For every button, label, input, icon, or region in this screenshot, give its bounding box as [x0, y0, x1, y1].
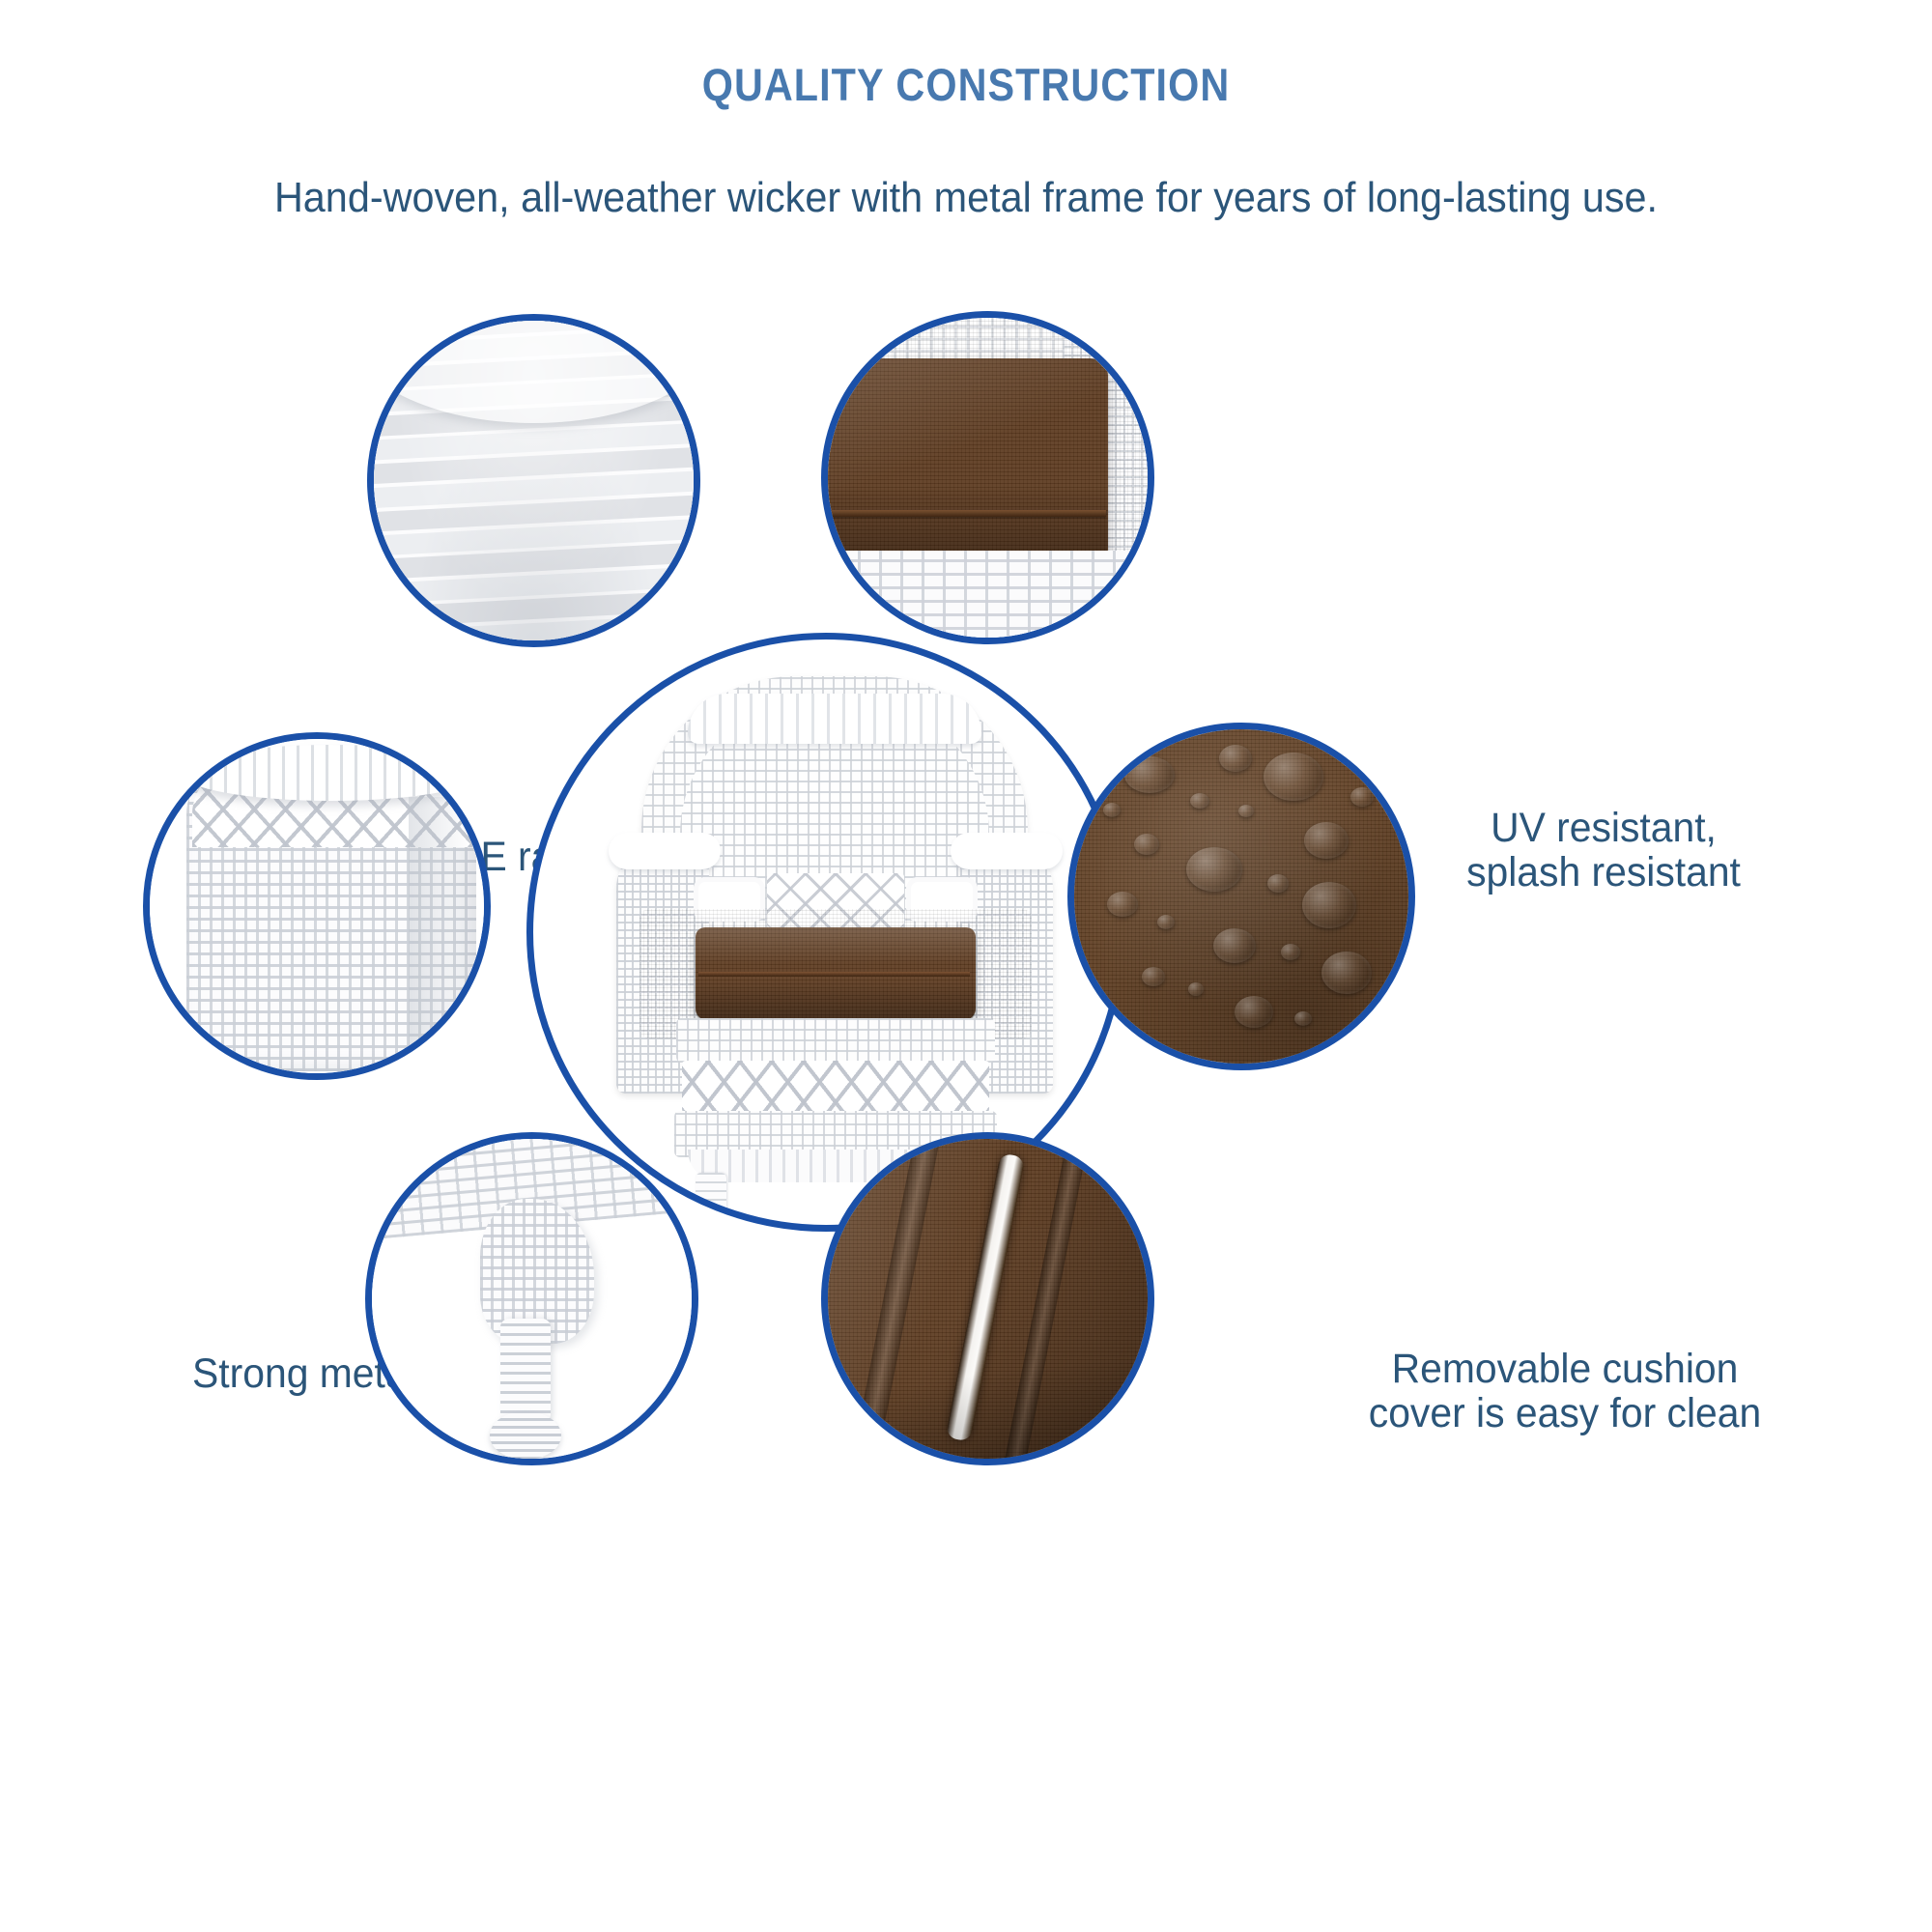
feature-image-hand-woven-pe-rattan: [367, 314, 700, 647]
cushion-on-wicker-photo: [828, 318, 1148, 638]
feature-image-cushion-zipper-detail: [821, 1132, 1154, 1465]
infographic-root: QUALITY CONSTRUCTION Hand-woven, all-wea…: [0, 0, 1932, 1932]
cushion-cover-zipper-photo: [828, 1139, 1148, 1459]
feature-image-removable-cushion-cover: [1067, 723, 1415, 1070]
page-title: QUALITY CONSTRUCTION: [116, 58, 1816, 111]
seat-cushion: [696, 927, 976, 1020]
feature-image-chair-leg-detail: [365, 1132, 698, 1465]
feature-caption-removable-cushion-cover: Removable cushion cover is easy for clea…: [1299, 1348, 1832, 1435]
wicker-weave-texture: [374, 321, 694, 640]
page-subtitle: Hand-woven, all-weather wicker with meta…: [58, 174, 1874, 222]
chair-arm-frame-photo: [150, 739, 484, 1073]
feature-image-strong-metal-structure: [143, 732, 491, 1080]
water-droplets-on-fabric-photo: [1074, 729, 1408, 1064]
feature-image-uv-splash-resistant: [821, 311, 1154, 644]
feature-caption-uv-splash-resistant: UV resistant, splash resistant: [1365, 807, 1842, 895]
chair-leg-photo: [372, 1139, 692, 1459]
